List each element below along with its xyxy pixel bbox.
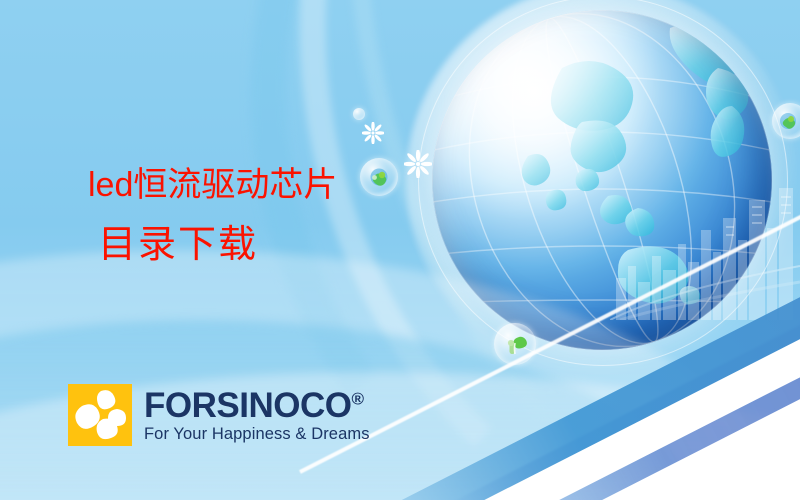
flower-sparkle-icon [362,122,384,149]
headline: led恒流驱动芯片 目录下载 [88,168,337,264]
logo-text-block: FORSINOCO® For Your Happiness & Dreams [144,384,370,444]
headline-line-2: 目录下载 [98,226,337,264]
promo-banner: led恒流驱动芯片 目录下载 FORSINOCO® For Your Happi… [0,0,800,500]
brand-tagline: For Your Happiness & Dreams [144,425,370,444]
registered-mark: ® [351,389,364,408]
bubble-globe-icon [772,103,800,139]
headline-line-1: led恒流驱动芯片 [88,168,337,202]
bubble-small-icon [353,108,365,120]
four-petal-flower-icon [68,384,132,446]
brand-logo[interactable]: FORSINOCO® For Your Happiness & Dreams [68,384,370,446]
brand-word: FORSINOCO [144,386,351,425]
bubble-sprout-icon [494,323,536,365]
city-skyline-icon [610,170,800,320]
bubble-globe-icon [360,158,398,196]
brand-name: FORSINOCO® [144,390,370,422]
flower-sparkle-icon [404,150,432,183]
